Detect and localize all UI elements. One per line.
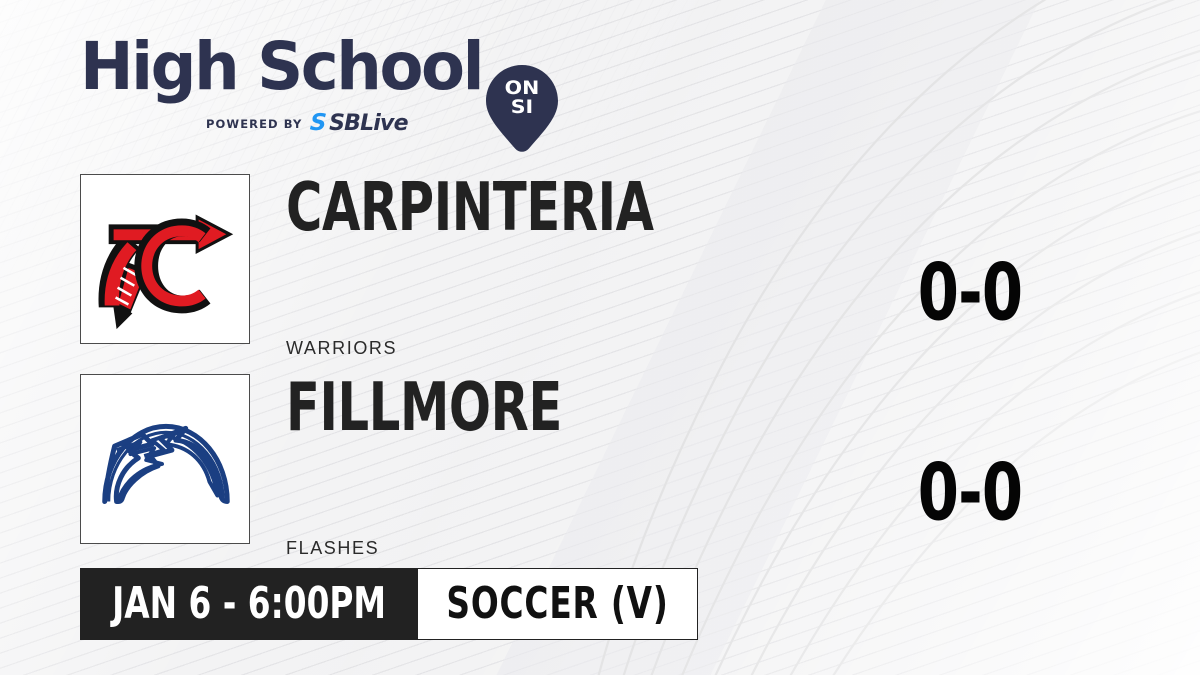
team-record-carpinteria: 0-0 [890, 254, 1050, 332]
game-sport-text: SOCCER (V) [446, 582, 668, 625]
team-record-fillmore: 0-0 [890, 454, 1050, 532]
sblive-s-icon: S [310, 112, 327, 135]
game-datetime-text: JAN 6 - 6:00PM [112, 582, 386, 625]
pin-line-si: SI [483, 98, 561, 117]
sblive-logo: S SBLive [310, 112, 407, 135]
on-si-pin-text: ON SI [486, 79, 558, 117]
powered-by-label: POWERED BY [206, 117, 302, 131]
sblive-wordmark: SBLive [329, 113, 408, 135]
game-sport-segment: SOCCER (V) [418, 568, 698, 640]
brand-logo: High School ON SI POWERED BY S SBLive [80, 34, 510, 136]
team-logo-box-carpinteria [80, 174, 250, 344]
game-info-banner: JAN 6 - 6:00PM SOCCER (V) [80, 568, 698, 640]
fillmore-flashes-logo [81, 375, 249, 543]
on-si-pin-icon: ON SI [486, 65, 558, 153]
team-mascot-flashes: FLASHES [286, 538, 379, 559]
team-name-carpinteria: CARPINTERIA [286, 174, 654, 241]
game-datetime-segment: JAN 6 - 6:00PM [80, 568, 418, 640]
carpinteria-warriors-logo [81, 175, 249, 343]
team-mascot-warriors: WARRIORS [286, 338, 397, 359]
brand-title: High School [80, 34, 497, 100]
team-logo-box-fillmore [80, 374, 250, 544]
powered-by-sblive: POWERED BY S SBLive [206, 112, 408, 135]
team-name-fillmore: FILLMORE [286, 374, 562, 441]
matchup-graphic: High School ON SI POWERED BY S SBLive [0, 0, 1200, 675]
